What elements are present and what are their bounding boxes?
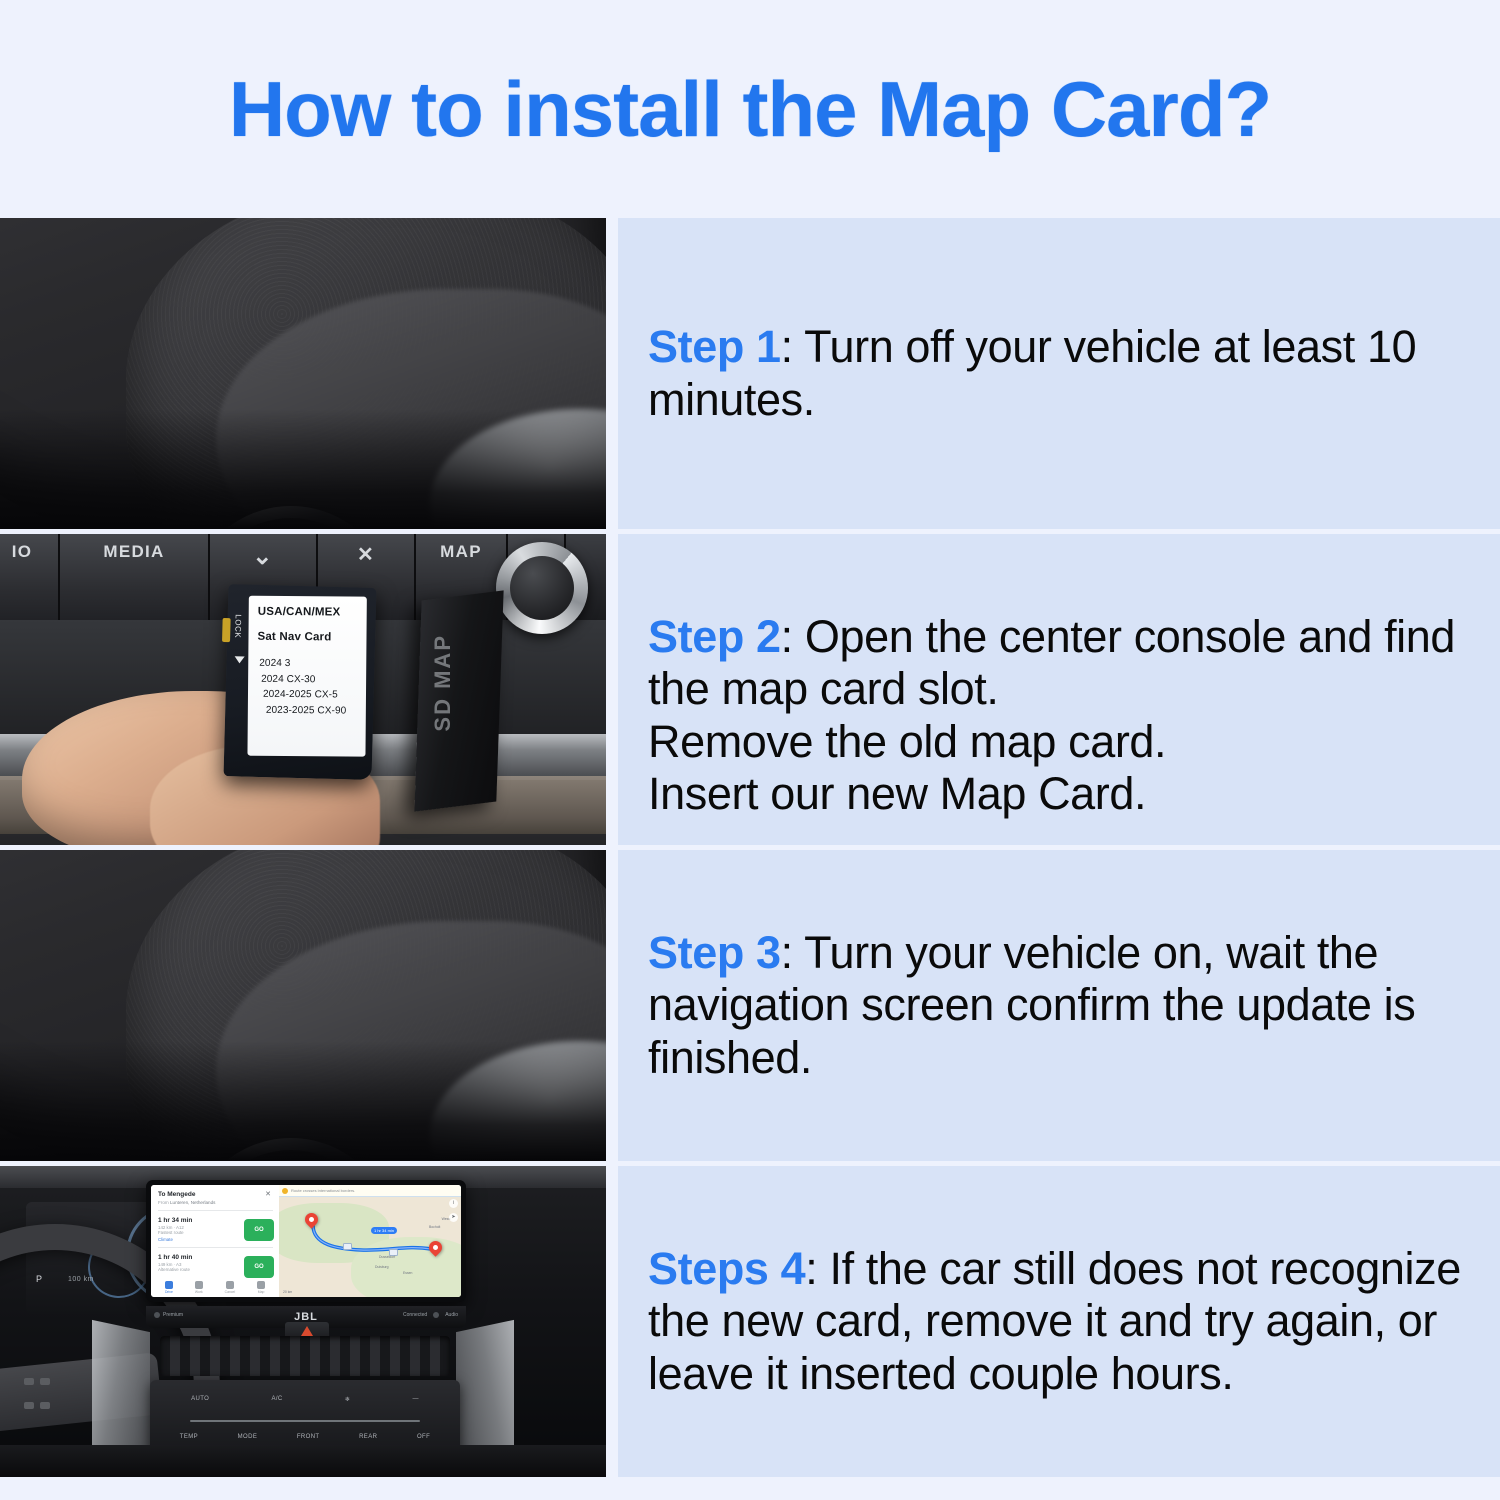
infographic-page: How to install the Map Card? START STOP … <box>0 0 1500 1500</box>
nav-tab-cancel[interactable]: Cancel <box>225 1281 236 1294</box>
title-bar: How to install the Map Card? <box>0 0 1500 218</box>
nav-tab-bar: Drive Work Cancel <box>151 1281 279 1294</box>
step-row-4: P 100 km 60 100 140 180 To M <box>0 1166 1500 1477</box>
nav-from-prefix: From <box>158 1200 169 1205</box>
infotainment-screen[interactable]: To Mengede From Lunteren, Netherlands ✕ … <box>146 1180 466 1302</box>
highway-shield-a12 <box>343 1243 352 1250</box>
sd-card-model: 2024 3 <box>257 659 360 670</box>
step-row-3: START STOP ENGINE Step 3: Turn your vehi… <box>0 850 1500 1161</box>
dash-button-media[interactable]: MEDIA <box>60 534 210 620</box>
climate-temp-button[interactable]: TEMP <box>180 1434 198 1440</box>
sd-card-write-notch <box>222 618 231 642</box>
step-1-label: Step 1 <box>648 321 781 372</box>
dash-button-map-label: MAP <box>440 542 482 562</box>
volume-knob-inner <box>510 556 574 620</box>
climate-rear-defrost-button[interactable]: REAR <box>359 1434 377 1440</box>
nav-tab-drive-label: Drive <box>165 1290 173 1294</box>
map-place-label: Bocholt <box>429 1225 440 1229</box>
map-share-icon[interactable]: ➤ <box>449 1213 458 1222</box>
steps-grid: START STOP ENGINE Step 1: Turn off your … <box>0 218 1500 1491</box>
work-icon <box>195 1281 203 1289</box>
pin-dot <box>308 1216 315 1223</box>
climate-row-bottom: TEMP MODE FRONT REAR OFF <box>160 1434 450 1440</box>
step-3-separator: : <box>781 927 804 978</box>
nav-origin: From Lunteren, Netherlands <box>158 1200 273 1205</box>
step-2-label: Step 2 <box>648 611 781 662</box>
cancel-icon <box>226 1281 234 1289</box>
photo-push-start-engine-1: START STOP ENGINE <box>0 218 606 529</box>
console-bottom-rail <box>0 1445 606 1477</box>
map-card-slot-door[interactable] <box>414 590 503 811</box>
nav-from-value: Lunteren, Netherlands <box>170 1200 215 1205</box>
nav-tab-map[interactable]: Map <box>257 1281 265 1294</box>
step-panel-1: Step 1: Turn off your vehicle at least 1… <box>618 218 1500 529</box>
route-1-go-button[interactable]: GO <box>244 1219 274 1241</box>
step-2-separator: : <box>781 611 805 662</box>
nav-tab-work[interactable]: Work <box>195 1281 203 1294</box>
route-2-go-button[interactable]: GO <box>244 1256 274 1278</box>
sd-card-model: 2023-2025 CX-90 <box>257 705 360 716</box>
sd-card-lock-label: LOCK <box>233 614 243 638</box>
drive-icon <box>165 1281 173 1289</box>
map-border-banner: Route crosses international borders. <box>279 1185 461 1196</box>
map-scale-label: 20 km <box>283 1290 292 1294</box>
step-3-label: Step 3 <box>648 927 781 978</box>
nav-route-option-2[interactable]: 1 hr 40 min 149 km · A3 Alternative rout… <box>158 1254 273 1272</box>
map-info-icon[interactable]: i <box>449 1199 458 1208</box>
map-place-label: Duisburg <box>375 1265 389 1269</box>
page-title: How to install the Map Card? <box>229 64 1271 155</box>
photo-map-card-slot: IO MEDIA ⌄ ✕ MAP <box>0 534 606 845</box>
climate-mode-button[interactable]: MODE <box>238 1434 258 1440</box>
climate-auto-button[interactable]: AUTO <box>191 1396 209 1403</box>
map-place-label: Essen <box>403 1271 412 1275</box>
sd-map-card[interactable]: LOCK USA/CAN/MEX Sat Nav Card 2024 3 202… <box>224 584 377 780</box>
step-4-text: Steps 4: If the car still does not recog… <box>648 1243 1474 1401</box>
steering-wheel-button[interactable] <box>40 1402 50 1409</box>
badge-dot-icon <box>154 1312 160 1318</box>
climate-snowflake-icon[interactable]: ❄ <box>345 1396 350 1403</box>
dash-button-radio[interactable]: IO <box>0 534 60 620</box>
steering-wheel-button[interactable] <box>24 1402 34 1409</box>
navigation-route-panel: To Mengede From Lunteren, Netherlands ✕ … <box>151 1185 279 1297</box>
dash-button-media-label: MEDIA <box>103 542 164 562</box>
sd-card-model: 2024-2025 CX-5 <box>257 690 360 701</box>
climate-row-top: AUTO A/C ❄ — <box>160 1396 450 1403</box>
sd-card-model: 2024 CX-30 <box>257 674 360 685</box>
map-route-time-label: 1 hr 34 min <box>371 1227 397 1234</box>
climate-ac-button[interactable]: A/C <box>271 1396 282 1403</box>
photo-push-start-engine-2: START STOP ENGINE <box>0 850 606 1161</box>
sd-card-product: Sat Nav Card <box>257 631 360 644</box>
photo-bottom-shadow <box>0 409 606 529</box>
climate-dash-icon[interactable]: — <box>412 1396 418 1403</box>
step-2-text: Step 2: Open the center console and find… <box>648 558 1474 821</box>
badge-right-label-2: Audio <box>445 1312 458 1318</box>
steering-wheel-button[interactable] <box>40 1378 50 1385</box>
badge-left: Premium <box>154 1312 183 1318</box>
nav-route-option-1[interactable]: 1 hr 34 min 142 km · A12 Fastest route C… <box>158 1217 273 1242</box>
warning-icon <box>282 1188 288 1194</box>
center-air-vents <box>160 1336 450 1376</box>
step-3-text: Step 3: Turn your vehicle on, wait the n… <box>648 927 1474 1085</box>
step-row-2: IO MEDIA ⌄ ✕ MAP <box>0 534 1500 845</box>
photo-navigation-screen: P 100 km 60 100 140 180 To M <box>0 1166 606 1477</box>
slot-door-label: SD MAP <box>430 634 456 732</box>
close-icon[interactable]: ✕ <box>264 1191 272 1199</box>
map-place-label: Dusseldorf <box>379 1255 395 1259</box>
sd-card-model-list: 2024 3 2024 CX-30 2024-2025 CX-5 2023-20… <box>257 659 360 717</box>
hazard-triangle-icon <box>301 1326 313 1336</box>
step-panel-4: Steps 4: If the car still does not recog… <box>618 1166 1500 1477</box>
step-4-separator: : <box>805 1243 829 1294</box>
climate-temp-slider[interactable] <box>190 1420 420 1422</box>
badge-right-label-1: Connected <box>403 1312 427 1318</box>
badge-right: Connected Audio <box>403 1312 458 1318</box>
chevron-down-icon: ⌄ <box>252 542 273 571</box>
screen-content: To Mengede From Lunteren, Netherlands ✕ … <box>151 1185 461 1297</box>
divider <box>158 1247 273 1248</box>
pin-dot <box>432 1244 439 1251</box>
nav-tab-cancel-label: Cancel <box>225 1290 236 1294</box>
step-row-1: START STOP ENGINE Step 1: Turn off your … <box>0 218 1500 529</box>
badge-left-label: Premium <box>163 1312 183 1318</box>
steering-wheel-button[interactable] <box>24 1378 34 1385</box>
dash-button-radio-label: IO <box>12 542 33 562</box>
climate-off-button[interactable]: OFF <box>417 1434 430 1440</box>
step-1-separator: : <box>781 321 804 372</box>
step-panel-3: Step 3: Turn your vehicle on, wait the n… <box>618 850 1500 1161</box>
close-icon: ✕ <box>357 542 375 567</box>
nav-tab-drive[interactable]: Drive <box>165 1281 173 1294</box>
nav-destination: To Mengede <box>158 1191 273 1198</box>
map-icon <box>257 1281 265 1289</box>
sd-card-region: USA/CAN/MEX <box>258 606 361 619</box>
step-4-label: Steps 4 <box>648 1243 805 1294</box>
nav-tab-work-label: Work <box>195 1290 203 1294</box>
step-1-text: Step 1: Turn off your vehicle at least 1… <box>648 321 1474 426</box>
badge-dot-icon <box>433 1312 439 1318</box>
divider <box>158 1210 273 1211</box>
nav-tab-map-label: Map <box>258 1290 265 1294</box>
map-banner-text: Route crosses international borders. <box>291 1188 355 1193</box>
sd-card-label: USA/CAN/MEX Sat Nav Card 2024 3 2024 CX-… <box>247 596 366 757</box>
lock-arrow-icon <box>234 656 244 663</box>
photo-bottom-shadow <box>0 1041 606 1161</box>
navigation-map[interactable]: Route crosses international borders. <box>279 1185 461 1297</box>
step-panel-2: Step 2: Open the center console and find… <box>618 534 1500 845</box>
climate-front-defrost-button[interactable]: FRONT <box>297 1434 320 1440</box>
